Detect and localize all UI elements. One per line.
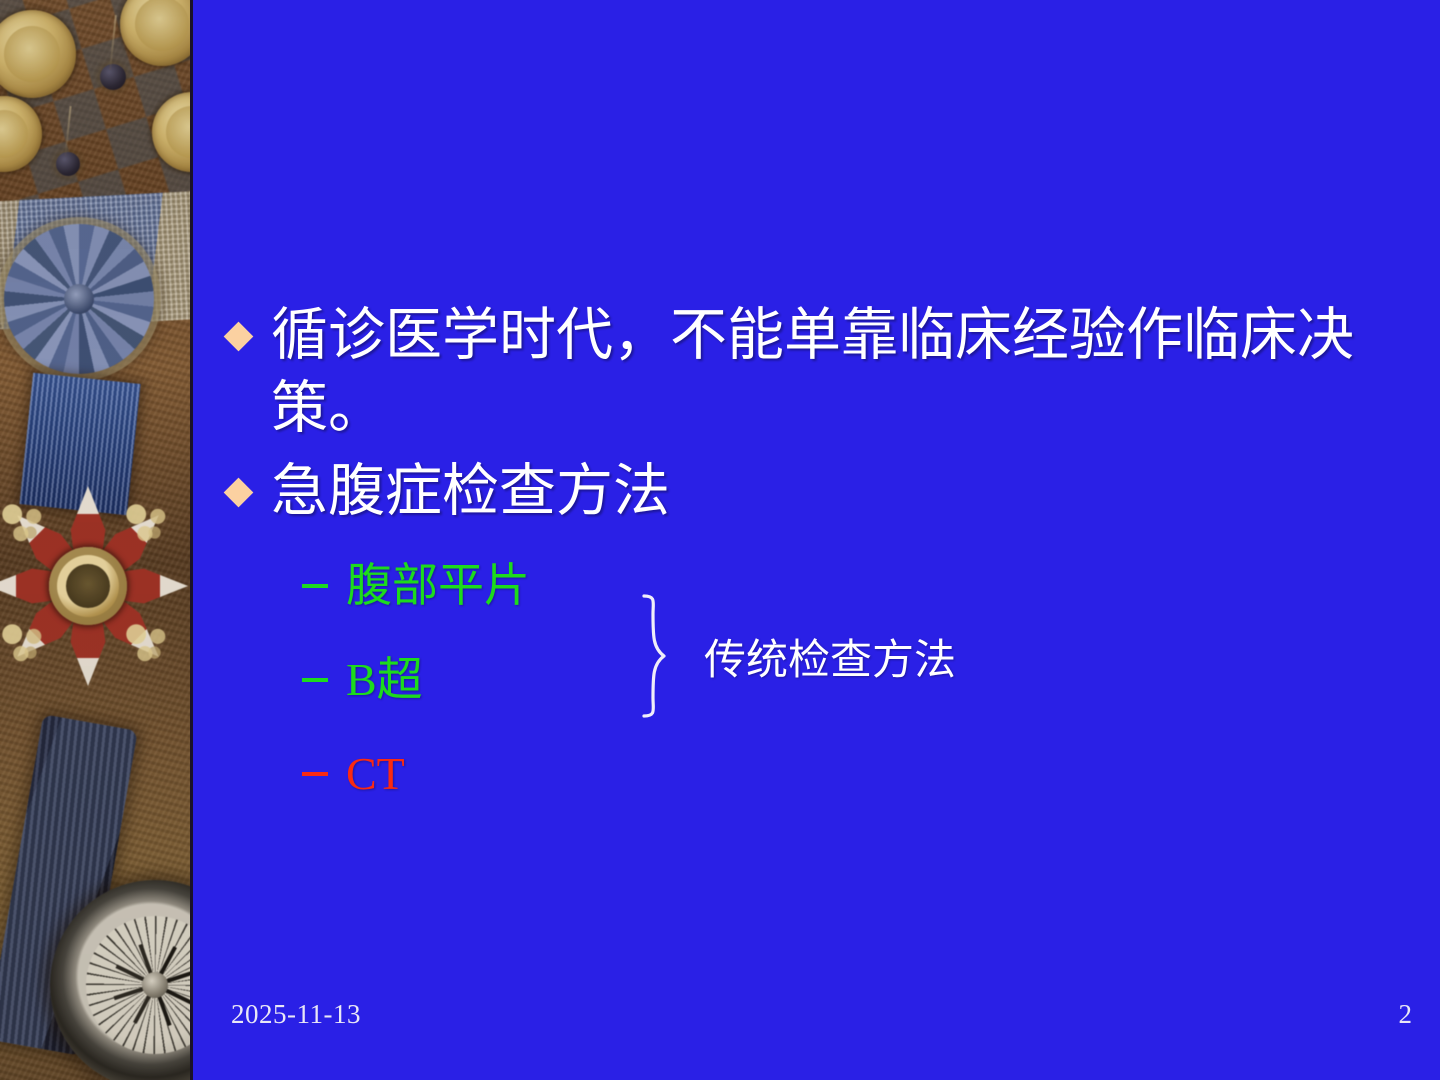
footer-date: 2025-11-13	[231, 999, 361, 1030]
medal-filigree	[120, 498, 174, 552]
diamond-bullet-icon	[224, 478, 254, 508]
footer-page-number: 2	[1399, 999, 1413, 1030]
bullet-item-1: 循诊医学时代，不能单靠临床经验作临床决策。	[228, 300, 1408, 446]
dash-bullet-icon	[302, 772, 328, 776]
annotation-label: 传统检查方法	[704, 626, 956, 687]
sub-bullet-item-1-label: 腹部平片	[346, 563, 530, 609]
sub-bullet-item-3: CT	[302, 751, 1408, 797]
bullet-item-2-label: 急腹症检查方法	[271, 456, 1408, 529]
pleated-rosette	[4, 224, 154, 374]
compass-dial	[86, 916, 193, 1055]
sub-bullet-item-2-label: B超	[346, 657, 423, 703]
strip-edge-divider	[190, 0, 193, 1080]
button-stud-icon	[56, 152, 80, 176]
bullet-item-1-label: 循诊医学时代，不能单靠临床经验作临床决策。	[271, 300, 1408, 446]
sub-bullet-item-3-label: CT	[346, 751, 405, 797]
compass-hub	[142, 972, 168, 998]
medal-center-emblem	[49, 547, 127, 625]
dash-bullet-icon	[302, 584, 328, 588]
medal-filigree	[120, 618, 174, 672]
diamond-bullet-icon	[224, 322, 254, 352]
medal-filigree	[0, 618, 50, 672]
annotation-group: 传统检查方法	[630, 592, 1050, 720]
slide: 循诊医学时代，不能单靠临床经验作临床决策。 急腹症检查方法 腹部平片 B超 CT…	[0, 0, 1440, 1080]
decorative-side-image	[0, 0, 193, 1080]
right-curly-brace-icon	[630, 592, 676, 720]
maltese-cross-medal	[0, 476, 193, 696]
slide-body: 循诊医学时代，不能单靠临床经验作临床决策。 急腹症检查方法 腹部平片 B超 CT	[228, 300, 1408, 797]
dash-bullet-icon	[302, 678, 328, 682]
bullet-item-2: 急腹症检查方法	[228, 456, 1408, 529]
button-stud-icon	[100, 64, 126, 90]
